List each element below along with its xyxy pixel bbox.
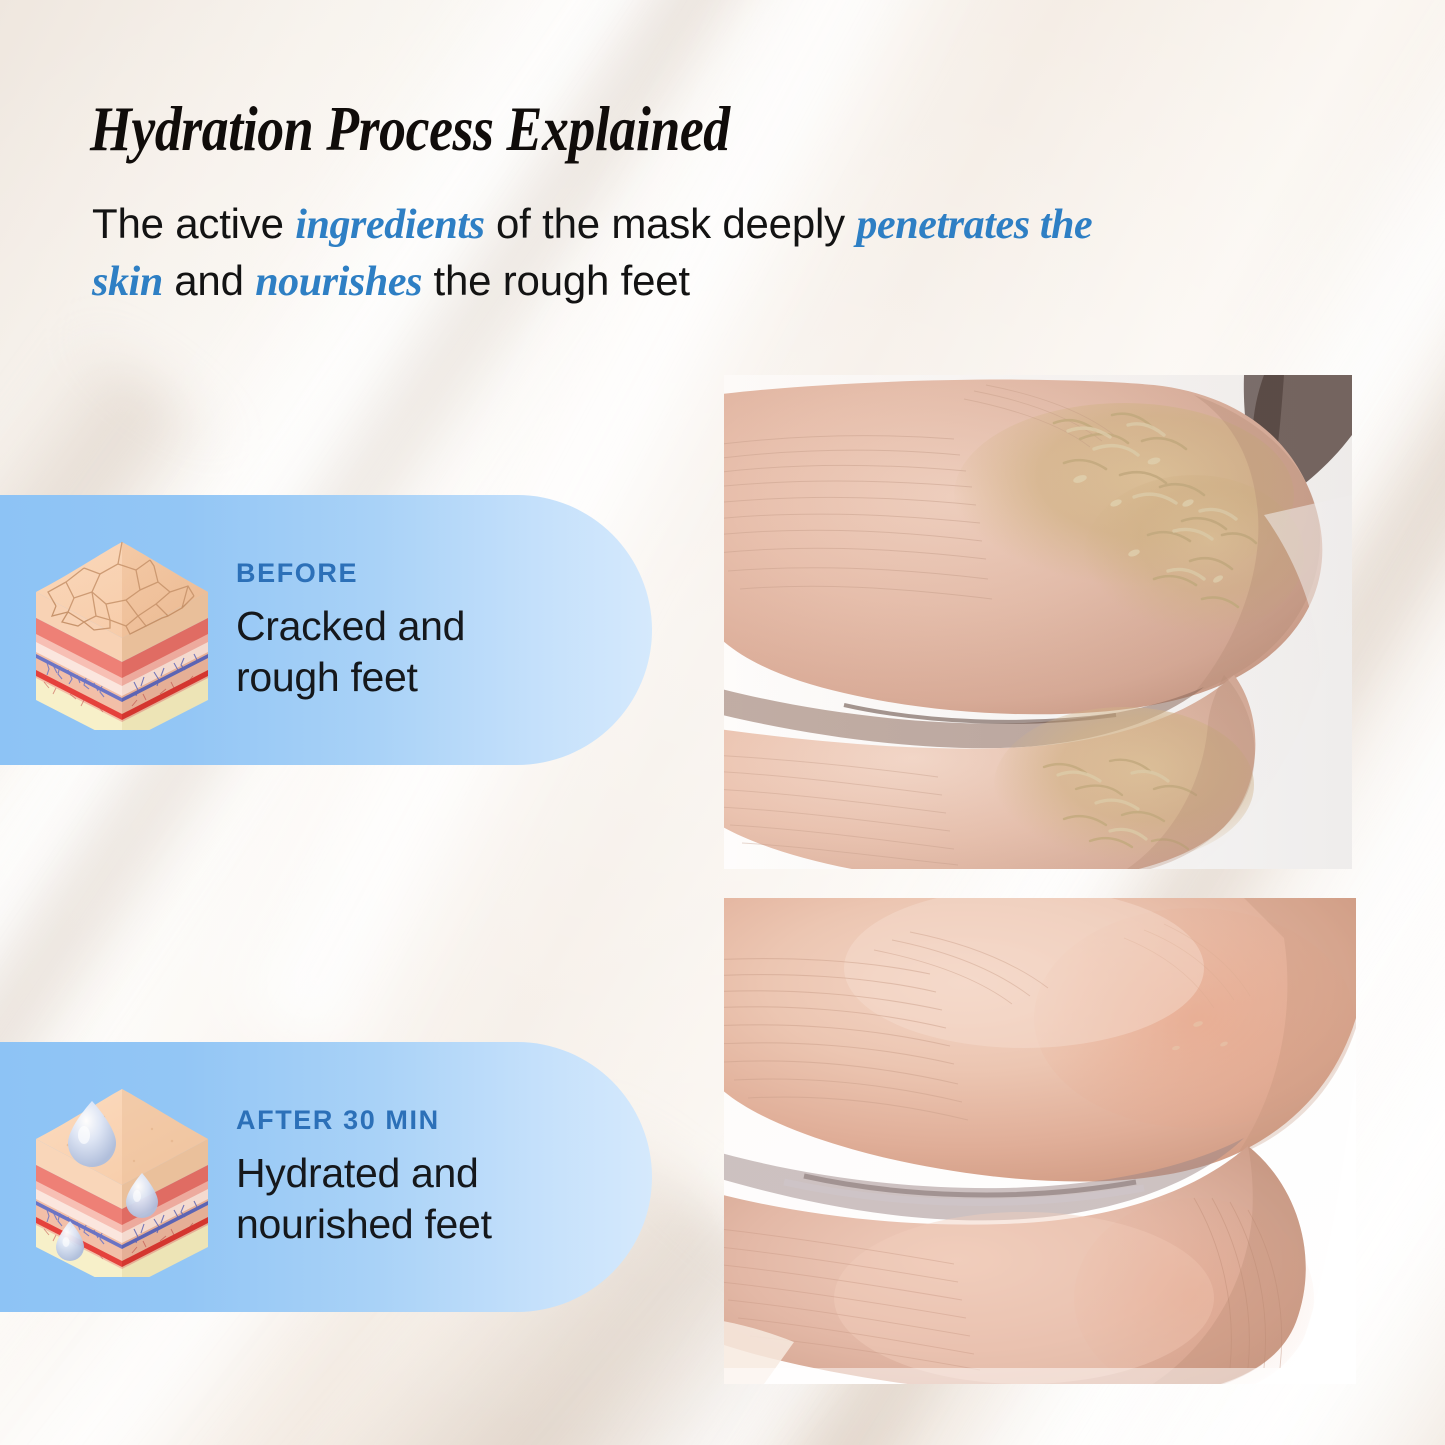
skin-cross-section-cracked-icon [22,530,222,730]
subtitle-segment-3: and [163,257,255,304]
card-after-body: Hydrated and nourished feet [236,1148,492,1250]
skin-cross-section-hydrated-icon [22,1077,222,1277]
smooth-hydrated-heel-photo [724,898,1356,1384]
page-title: Hydration Process Explained [90,92,730,166]
subtitle-emphasis-ingredients: ingredients [295,202,484,248]
subtitle-segment-2: of the mask deeply [485,200,857,247]
card-after-kicker: AFTER 30 MIN [236,1105,492,1136]
infographic-canvas: Hydration Process Explained The active i… [0,0,1445,1445]
cracked-rough-heel-photo [724,375,1352,869]
subtitle-segment-1: The active [92,200,295,247]
subtitle-segment-4: the rough feet [422,257,690,304]
page-subtitle: The active ingredients of the mask deepl… [92,196,1152,310]
subtitle-emphasis-nourishes: nourishes [255,259,422,305]
card-before-body: Cracked and rough feet [236,601,465,703]
card-after-text: AFTER 30 MIN Hydrated and nourished feet [236,1105,492,1250]
card-before-kicker: BEFORE [236,558,465,589]
card-after: AFTER 30 MIN Hydrated and nourished feet [0,1042,652,1312]
card-before-text: BEFORE Cracked and rough feet [236,558,465,703]
card-before: BEFORE Cracked and rough feet [0,495,652,765]
